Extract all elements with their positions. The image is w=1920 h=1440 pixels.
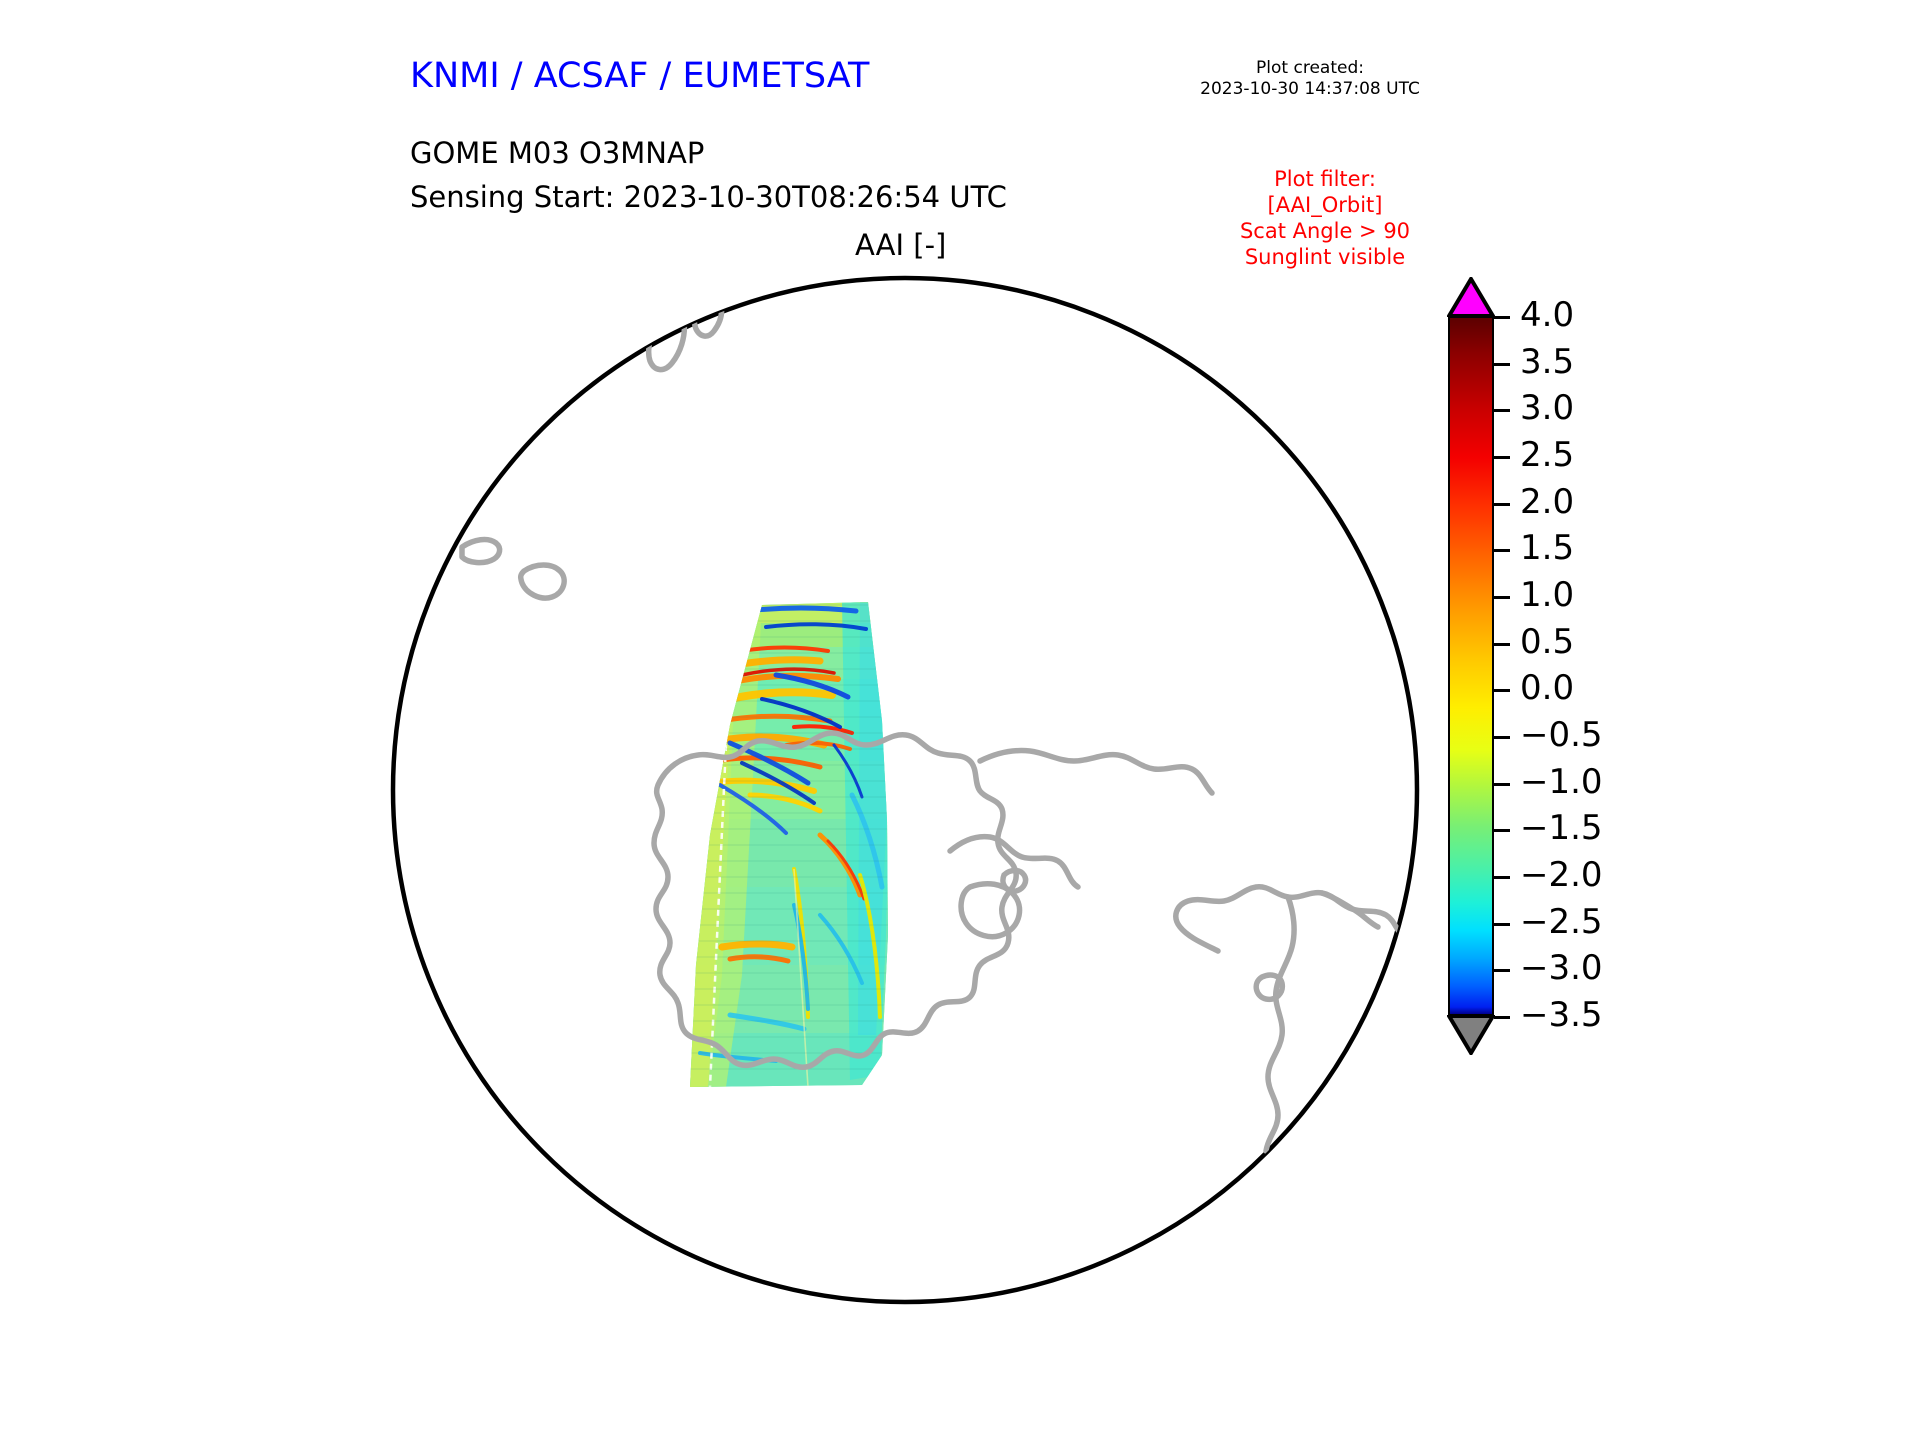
coastline-island-southwest <box>439 1062 462 1082</box>
colorbar-tick-label: −1.5 <box>1520 811 1603 845</box>
colorbar-tick-label: 2.5 <box>1520 438 1574 472</box>
plot-created-block: Plot created: 2023-10-30 14:37:08 UTC <box>1150 58 1470 100</box>
map-plot-area[interactable] <box>390 275 1420 1305</box>
colorbar-tick-label: −2.5 <box>1520 905 1603 939</box>
colorbar-tick <box>1494 363 1510 366</box>
colorbar-gradient-bar <box>1448 316 1494 1016</box>
plot-created-label: Plot created: <box>1150 58 1470 79</box>
colorbar-tick <box>1494 456 1510 459</box>
colorbar-tick-label: 0.5 <box>1520 625 1574 659</box>
colorbar-tick <box>1494 736 1510 739</box>
plot-filter-line-1: [AAI_Orbit] <box>1180 192 1470 218</box>
colorbar-tick-label: 2.0 <box>1520 485 1574 519</box>
colorbar-tick <box>1494 1016 1510 1019</box>
colorbar-tick <box>1494 316 1510 319</box>
colorbar-tick-label: 1.0 <box>1520 578 1574 612</box>
plot-filter-block: Plot filter: [AAI_Orbit] Scat Angle > 90… <box>1180 166 1470 270</box>
colorbar-tick <box>1494 643 1510 646</box>
colorbar-tick <box>1494 969 1510 972</box>
colorbar[interactable]: 4.03.53.02.52.01.51.00.50.0−0.5−1.0−1.5−… <box>1448 278 1868 1098</box>
colorbar-over-range-outline <box>1447 277 1495 317</box>
colorbar-tick <box>1494 923 1510 926</box>
colorbar-tick <box>1494 876 1510 879</box>
colorbar-under-range-outline <box>1447 1015 1495 1055</box>
colorbar-tick <box>1494 829 1510 832</box>
colorbar-tick-label: 3.0 <box>1520 391 1574 425</box>
map-limb-circle <box>393 278 1417 1302</box>
product-title: GOME M03 O3MNAP <box>410 136 704 170</box>
colorbar-tick <box>1494 596 1510 599</box>
colorbar-tick-label: 4.0 <box>1520 298 1574 332</box>
colorbar-tick-label: −3.0 <box>1520 951 1603 985</box>
page-title: AAI [-] <box>855 228 946 262</box>
colorbar-tick-label: −2.0 <box>1520 858 1603 892</box>
colorbar-tick-label: −0.5 <box>1520 718 1603 752</box>
coastline-tasmania <box>1207 1226 1245 1262</box>
colorbar-tick <box>1494 409 1510 412</box>
colorbar-tick <box>1494 783 1510 786</box>
plot-created-value: 2023-10-30 14:37:08 UTC <box>1150 79 1470 100</box>
colorbar-tick-label: 3.5 <box>1520 345 1574 379</box>
colorbar-tick <box>1494 689 1510 692</box>
plot-filter-line-3: Sunglint visible <box>1180 244 1470 270</box>
colorbar-tick-label: −1.0 <box>1520 765 1603 799</box>
plot-filter-line-2: Scat Angle > 90 <box>1180 218 1470 244</box>
colorbar-tick <box>1494 503 1510 506</box>
colorbar-tick-label: −3.5 <box>1520 998 1603 1032</box>
organisation-title: KNMI / ACSAF / EUMETSAT <box>410 56 869 96</box>
sensing-start-text: Sensing Start: 2023-10-30T08:26:54 UTC <box>410 180 1007 214</box>
colorbar-tick-label: 0.0 <box>1520 671 1574 705</box>
colorbar-tick <box>1494 549 1510 552</box>
colorbar-tick-label: 1.5 <box>1520 531 1574 565</box>
plot-filter-title: Plot filter: <box>1180 166 1470 192</box>
